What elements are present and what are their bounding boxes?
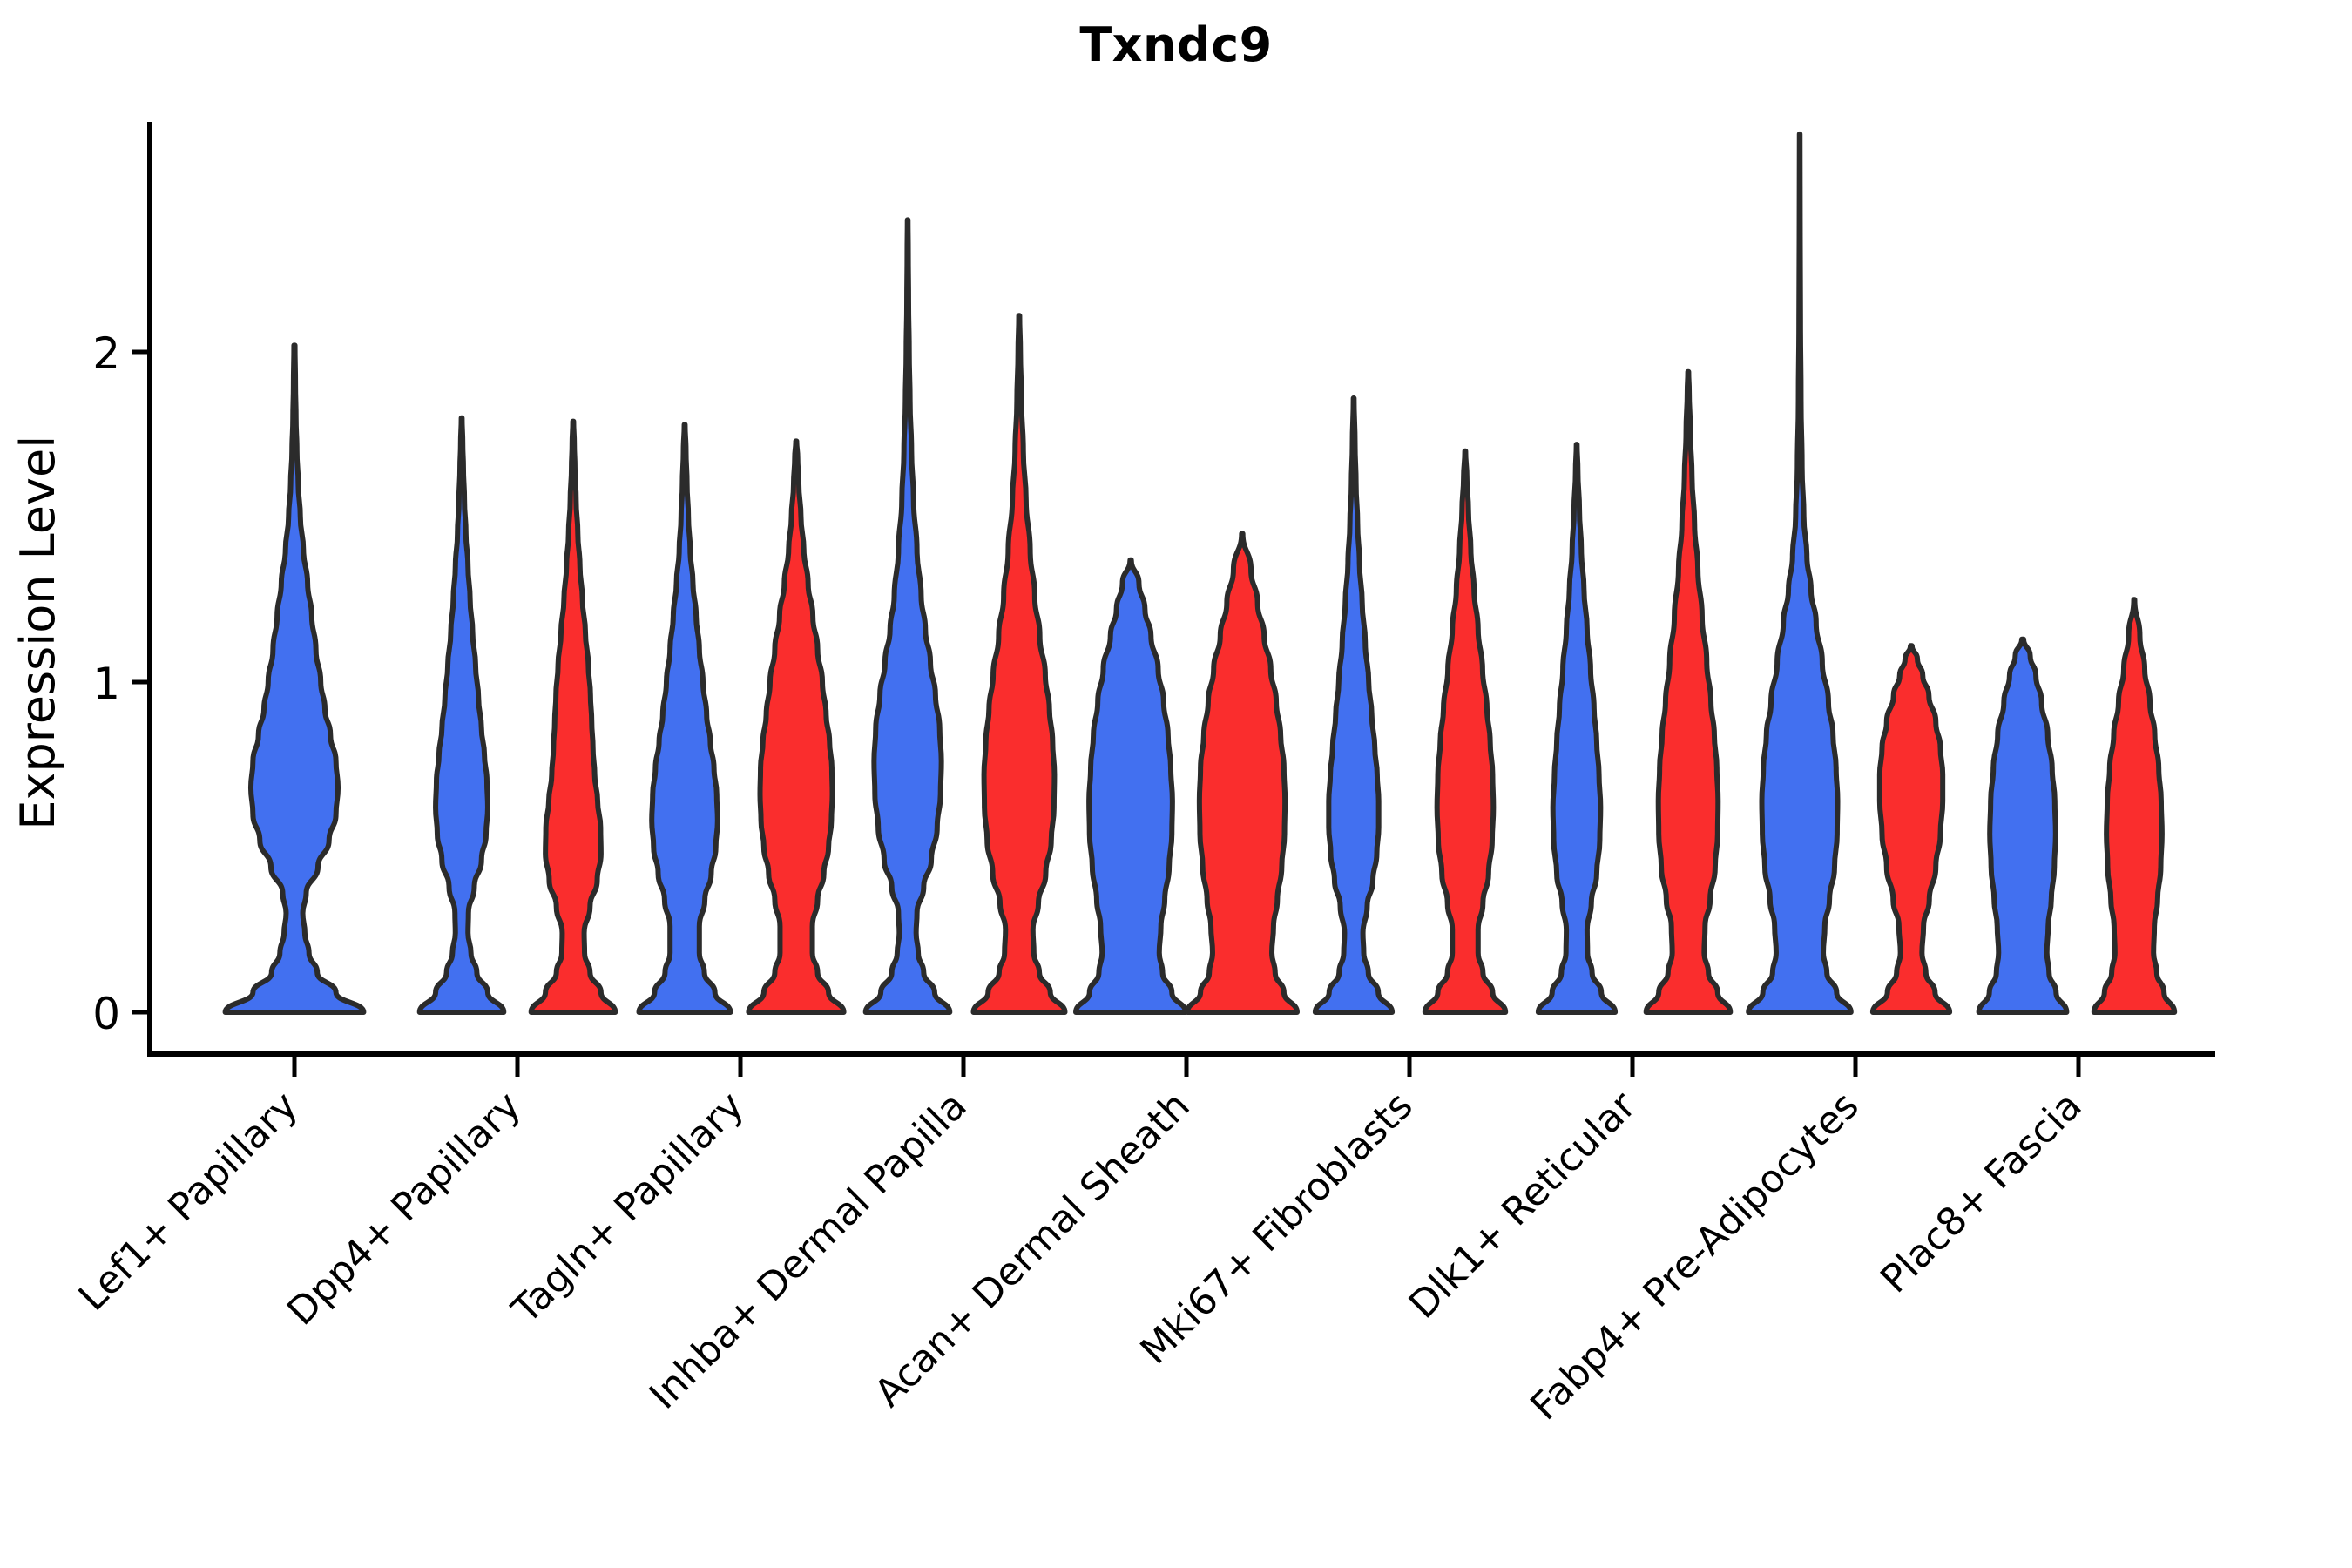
violin-shape bbox=[531, 422, 616, 1012]
y-tick-label: 1 bbox=[92, 659, 120, 709]
violin-shape bbox=[226, 345, 364, 1012]
violin-shape bbox=[639, 424, 731, 1012]
violin-shape bbox=[420, 418, 504, 1012]
x-tick-label: Dpp4+ Papillary bbox=[279, 1084, 530, 1335]
y-tick-label: 2 bbox=[92, 328, 120, 379]
violin-shape bbox=[1979, 639, 2067, 1012]
chart-canvas: 012Expression LevelLef1+ PapillaryDpp4+ … bbox=[0, 0, 2352, 1568]
violins-layer bbox=[226, 134, 2175, 1012]
violin-shape bbox=[1748, 134, 1851, 1012]
x-tick-label: Lef1+ Papillary bbox=[71, 1084, 307, 1320]
violin-shape bbox=[2094, 599, 2174, 1012]
violin-shape bbox=[1187, 533, 1297, 1012]
x-tick-label: Plac8+ Fascia bbox=[1872, 1084, 2091, 1302]
violin-shape bbox=[974, 315, 1065, 1012]
violin-plot-figure: Txndc9 012Expression LevelLef1+ Papillar… bbox=[0, 0, 2352, 1568]
y-tick-label: 0 bbox=[92, 989, 120, 1039]
violin-shape bbox=[748, 441, 843, 1012]
violin-shape bbox=[1076, 560, 1186, 1012]
x-tick-label: Tagln+ Papillary bbox=[504, 1084, 753, 1333]
violin-shape bbox=[1315, 398, 1392, 1012]
violin-shape bbox=[866, 220, 950, 1012]
violin-shape bbox=[1646, 372, 1731, 1012]
violin-shape bbox=[1425, 451, 1505, 1012]
violin-shape bbox=[1873, 645, 1950, 1012]
x-tick-label: Dlk1+ Reticular bbox=[1401, 1083, 1646, 1328]
y-axis-title: Expression Level bbox=[10, 436, 65, 830]
violin-shape bbox=[1538, 444, 1615, 1012]
